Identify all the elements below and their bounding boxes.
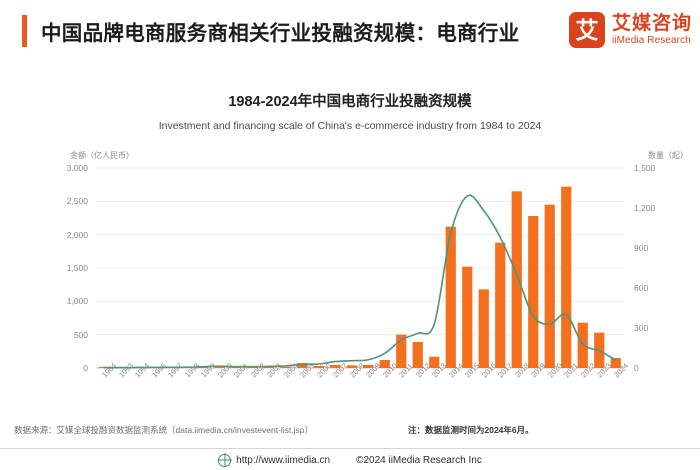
title-accent-bar <box>22 15 27 47</box>
logo-text: 艾媒咨询 iiMedia Research <box>612 14 692 46</box>
chart-subtitle: Investment and financing scale of China'… <box>0 120 700 132</box>
source-text: 数据来源：艾媒全球投融资数据监测系统（data.iimedia.cn/inves… <box>14 424 313 436</box>
y-tick-label: 1,000 <box>44 296 88 306</box>
page-title: 中国品牌电商服务商相关行业投融资规模：电商行业 <box>41 16 519 46</box>
y-tick-label: 2,000 <box>44 230 88 240</box>
y-tick-label: 1,500 <box>44 263 88 273</box>
page-header: 中国品牌电商服务商相关行业投融资规模：电商行业 艾 艾媒咨询 iiMedia R… <box>0 0 700 62</box>
brand-logo: 艾 艾媒咨询 iiMedia Research <box>569 12 692 48</box>
footer-source-row: 数据来源：艾媒全球投融资数据监测系统（data.iimedia.cn/inves… <box>0 424 700 436</box>
y-tick-label: 500 <box>44 330 88 340</box>
logo-name-en: iiMedia Research <box>612 36 692 46</box>
globe-icon <box>218 454 231 467</box>
y2-tick-label: 600 <box>634 283 674 293</box>
y2-tick-label: 1,200 <box>634 203 674 213</box>
footer-bar: http://www.iimedia.cn ©2024 iiMedia Rese… <box>0 450 700 470</box>
y2-tick-label: 300 <box>634 323 674 333</box>
plot-area: 金额（亿人民币） 数量（起） 05001,0001,5002,0002,5003… <box>0 150 700 410</box>
logo-name-cn: 艾媒咨询 <box>612 14 692 33</box>
footer-url[interactable]: http://www.iimedia.cn <box>236 455 330 466</box>
footer-divider <box>0 448 700 449</box>
note-text: 注：数据监测时间为2024年6月。 <box>408 424 534 436</box>
y-tick-label: 3,000 <box>44 163 88 173</box>
y-tick-label: 2,500 <box>44 196 88 206</box>
y2-tick-label: 900 <box>634 243 674 253</box>
chart-title: 1984-2024年中国电商行业投融资规模 <box>0 90 700 111</box>
y2-tick-label: 1,500 <box>634 163 674 173</box>
footer-copyright: ©2024 iiMedia Research Inc <box>356 455 482 466</box>
chart-card: 1984-2024年中国电商行业投融资规模 Investment and fin… <box>0 62 700 407</box>
x-axis-ticks: 1984199319941996199719981999200020012002… <box>0 368 700 408</box>
logo-mark-icon: 艾 <box>569 12 605 48</box>
